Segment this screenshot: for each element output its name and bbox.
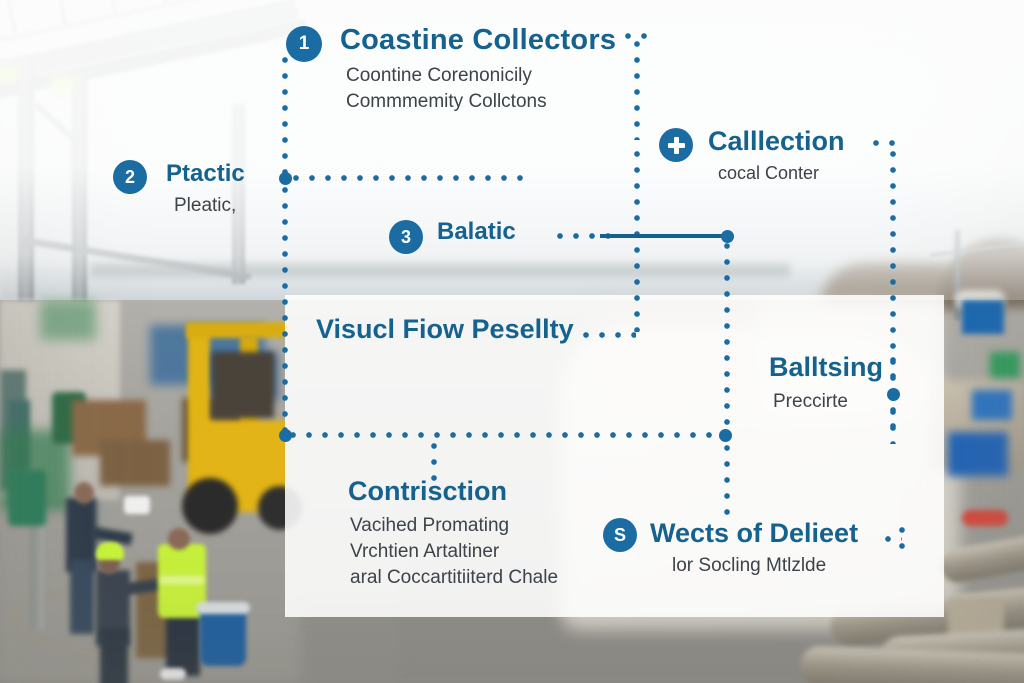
node-1-badge[interactable]: 1 [286, 26, 322, 62]
connector-vertical-center [724, 238, 730, 434]
node-contrisction-subline-3: aral Coccartitiiterd Chale [348, 565, 558, 591]
node-2-badge[interactable]: 2 [113, 160, 147, 194]
node-2-block[interactable]: Ptactic Pleatic, [166, 160, 245, 219]
connector-dotted-heading [578, 332, 636, 338]
node-collection-block[interactable]: Calllection cocal Conter [708, 126, 845, 186]
plus-icon [659, 128, 693, 162]
connector-vertical-left-upper [282, 52, 288, 178]
junction-node [279, 429, 292, 442]
junction-node [887, 388, 900, 401]
node-delieet-title: Wects of Delieet [650, 518, 858, 549]
node-1-subline-1: Coontine Corenonicily [340, 63, 616, 89]
node-delieet-subline-1: lor Socling Mtlzlde [650, 553, 858, 579]
connector-vertical-right-mid [890, 352, 896, 384]
junction-node [279, 172, 292, 185]
badge-letter-s: S [603, 518, 637, 552]
connector-stub-node1 [620, 33, 650, 39]
node-collection-badge[interactable] [659, 128, 693, 162]
badge-number-2: 2 [113, 160, 147, 194]
node-3-badge[interactable]: 3 [389, 220, 423, 254]
connector-horizontal-node2 [288, 175, 526, 181]
connector-vertical-mid [634, 146, 640, 332]
center-heading: Visucl Fiow Pesellty [316, 314, 574, 345]
node-1-block[interactable]: Coastine Collectors Coontine Corenonicil… [340, 24, 616, 115]
node-balltsing-subline-1: Preccirte [769, 389, 883, 415]
node-collection-title: Calllection [708, 126, 845, 157]
connector-vertical-right-lower [890, 404, 896, 444]
node-contrisction-subline-2: Vrchtien Artaltiner [348, 539, 558, 565]
badge-number-3: 3 [389, 220, 423, 254]
connector-vertical-left-lower [282, 182, 288, 436]
node-contrisction-block[interactable]: Contrisction Vacihed Promating Vrchtien … [348, 476, 558, 591]
node-balltsing-title: Balltsing [769, 352, 883, 383]
node-1-subline-2: Commmemity Collctons [340, 89, 616, 115]
center-heading-block: Visucl Fiow Pesellty [316, 314, 574, 345]
plus-icon-vertical [674, 137, 679, 154]
connector-vertical-delieet [899, 522, 905, 556]
node-collection-subline-1: cocal Conter [708, 161, 845, 186]
node-2-subline-1: Pleatic, [166, 193, 245, 219]
node-delieet-block[interactable]: Wects of Delieet lor Socling Mtlzlde [650, 518, 858, 579]
node-3-block[interactable]: Balatic [437, 218, 516, 246]
node-contrisction-subline-1: Vacihed Promating [348, 513, 558, 539]
badge-number-1: 1 [286, 26, 322, 62]
node-balltsing-block[interactable]: Balltsing Preccirte [769, 352, 883, 415]
node-3-title: Balatic [437, 218, 516, 246]
node-2-title: Ptactic [166, 160, 245, 188]
connector-horizontal-lower [285, 432, 725, 438]
connector-vertical-to-delieet [724, 440, 730, 524]
node-1-title: Coastine Collectors [340, 24, 616, 57]
node-delieet-badge[interactable]: S [603, 518, 637, 552]
infographic-canvas: 1 Coastine Collectors Coontine Corenonic… [0, 0, 1024, 683]
connector-solid-node3 [600, 234, 728, 238]
node-contrisction-title: Contrisction [348, 476, 558, 507]
connector-vertical-node1-right [634, 36, 640, 140]
